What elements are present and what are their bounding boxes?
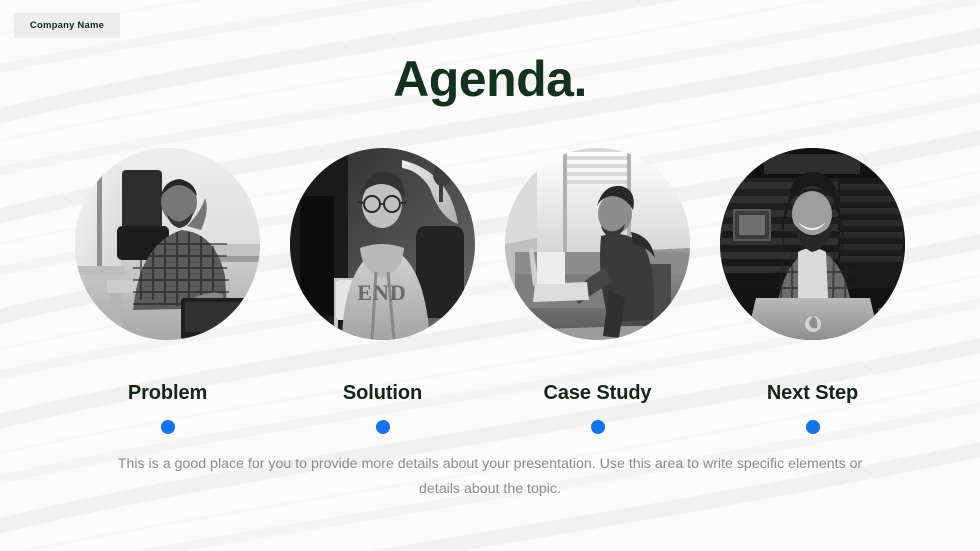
agenda-item-next-step[interactable]: Next Step bbox=[720, 148, 905, 434]
agenda-items-row: Problem bbox=[0, 148, 980, 434]
agenda-photo-solution: END bbox=[290, 148, 475, 340]
agenda-item-solution[interactable]: END Solution bbox=[290, 148, 475, 434]
agenda-photo-next-step bbox=[720, 148, 905, 340]
agenda-item-dot bbox=[591, 420, 605, 434]
company-name-badge: Company Name bbox=[14, 13, 120, 38]
agenda-item-dot bbox=[376, 420, 390, 434]
agenda-photo-problem bbox=[75, 148, 260, 340]
agenda-item-label: Case Study bbox=[544, 382, 652, 405]
description-text: This is a good place for you to provide … bbox=[116, 452, 864, 502]
agenda-item-label: Solution bbox=[343, 382, 422, 405]
agenda-item-case-study[interactable]: Case Study bbox=[505, 148, 690, 434]
company-name-label: Company Name bbox=[30, 20, 104, 31]
agenda-item-dot bbox=[161, 420, 175, 434]
agenda-slide: Company Name Agenda. bbox=[0, 0, 980, 551]
agenda-item-problem[interactable]: Problem bbox=[75, 148, 260, 434]
svg-text:END: END bbox=[357, 280, 406, 305]
page-title: Agenda. bbox=[0, 50, 980, 108]
agenda-item-label: Problem bbox=[128, 382, 207, 405]
agenda-photo-case-study bbox=[505, 148, 690, 340]
agenda-item-dot bbox=[806, 420, 820, 434]
agenda-item-label: Next Step bbox=[767, 382, 858, 405]
